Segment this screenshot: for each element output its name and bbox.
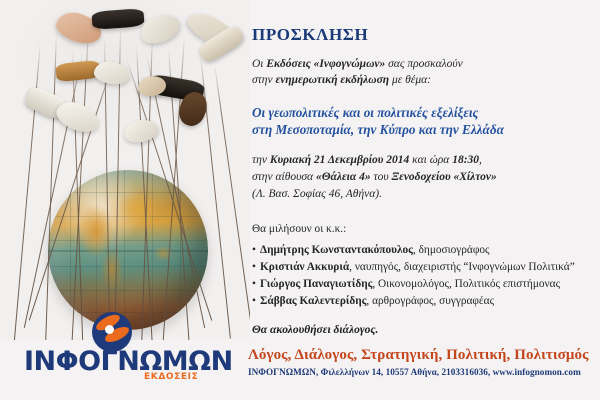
event-datetime-venue: την Κυριακή 21 Δεκεμβρίου 2014 και ώρα 1… (252, 152, 592, 203)
bullet-icon: • (252, 259, 260, 276)
lead-prefix-2: στην (252, 74, 275, 86)
logo-center-dot (105, 325, 114, 334)
event-topic: Οι γεωπολιτικές και οι πολιτικές εξελίξε… (252, 104, 592, 139)
lead-publisher-name: Εκδόσεις «Ινφογνώμων» (266, 58, 385, 70)
topic-line-2: στη Μεσοποταμία, την Κύπρο και την Ελλάδ… (252, 122, 504, 137)
lead-event-type: ενημερωτική εκδήλωση (275, 74, 389, 86)
invitation-content: ΠΡΟΣΚΛΗΣΗ Οι Εκδόσεις «Ινφογνώμων» σας π… (252, 26, 592, 336)
list-item: •Γιώργος Παναγιωτίδης, Οικονομολόγος, Πο… (252, 276, 592, 293)
speaker-role: , αρθρογράφος, συγγραφέας (366, 295, 494, 307)
speaker-role: , Οικονομολόγος, Πολιτικός επιστήμονας (372, 278, 560, 290)
venue-address: (Λ. Βασ. Σοφίας 46, Αθήνα). (252, 188, 382, 200)
list-item: •Κριστιάν Ακκυριά, ναυπηγός, διαχειριστή… (252, 259, 592, 276)
footer-tagline: Λόγος, Διάλογος, Στρατηγική, Πολιτική, Π… (248, 347, 596, 364)
bullet-icon: • (252, 276, 260, 293)
infognomon-logo: ΙΝΦΟΓΝΩΜΩΝ ΕΚΔΟΣΕΙΣ (24, 312, 236, 386)
lead-suffix-2: με θέμα: (389, 74, 431, 86)
logo-subtitle: ΕΚΔΟΣΕΙΣ (144, 372, 198, 382)
speaker-name: Δημήτρης Κωνσταντακόπουλος (260, 244, 413, 256)
venue-hotel: Ξενοδοχείου «Χίλτον» (392, 171, 497, 183)
event-time: 18:30 (452, 154, 479, 166)
when-suffix: , (479, 154, 482, 166)
speaker-name: Κριστιάν Ακκυριά (260, 261, 349, 273)
speaker-name: Γιώργος Παναγιωτίδης (260, 278, 372, 290)
lead-suffix-1: σας προσκαλούν (385, 58, 463, 70)
speaker-role: , δημοσιογράφος (413, 244, 490, 256)
speaker-role: , ναυπηγός, διαχειριστής “Ινφογνώμων Πολ… (349, 261, 575, 273)
speakers-intro: Θα μιλήσουν οι κ.κ.: (252, 222, 592, 237)
bullet-icon: • (252, 242, 260, 259)
when-mid: και ώρα (409, 154, 452, 166)
topic-line-1: Οι γεωπολιτικές και οι πολιτικές εξελίξε… (252, 105, 478, 120)
lead-prefix-1: Οι (252, 58, 266, 70)
venue-prefix: στην αίθουσα (252, 171, 316, 183)
invitation-poster: ΙΝΦΟΓΝΩΜΩΝ ΕΚΔΟΣΕΙΣ ΠΡΟΣΚΛΗΣΗ Οι Εκδόσει… (0, 0, 600, 400)
venue-mid: του (371, 171, 392, 183)
logo-wordmark: ΙΝΦΟΓΝΩΜΩΝ (24, 346, 233, 377)
dialogue-note: Θα ακολουθήσει διάλογος. (252, 324, 592, 336)
list-item: •Δημήτρης Κωνσταντακόπουλος, δημοσιογράφ… (252, 242, 592, 259)
when-prefix: την (252, 154, 270, 166)
poster-footer: Λόγος, Διάλογος, Στρατηγική, Πολιτική, Π… (248, 347, 596, 378)
bullet-icon: • (252, 293, 260, 310)
footer-address: ΙΝΦΟΓΝΩΜΩΝ, Φιλελλήνων 14, 10557 Αθήνα, … (248, 367, 596, 378)
invitation-heading: ΠΡΟΣΚΛΗΣΗ (252, 26, 592, 45)
invitation-lead: Οι Εκδόσεις «Ινφογνώμων» σας προσκαλούν … (252, 56, 592, 89)
event-date: Κυριακή 21 Δεκεμβρίου 2014 (270, 154, 409, 166)
venue-room: «Θάλεια 4» (316, 171, 371, 183)
marionette-globe-photo (0, 0, 250, 340)
speaker-name: Σάββας Καλεντερίδης (260, 295, 366, 307)
speakers-list: •Δημήτρης Κωνσταντακόπουλος, δημοσιογράφ… (252, 242, 592, 311)
list-item: •Σάββας Καλεντερίδης, αρθρογράφος, συγγρ… (252, 293, 592, 310)
